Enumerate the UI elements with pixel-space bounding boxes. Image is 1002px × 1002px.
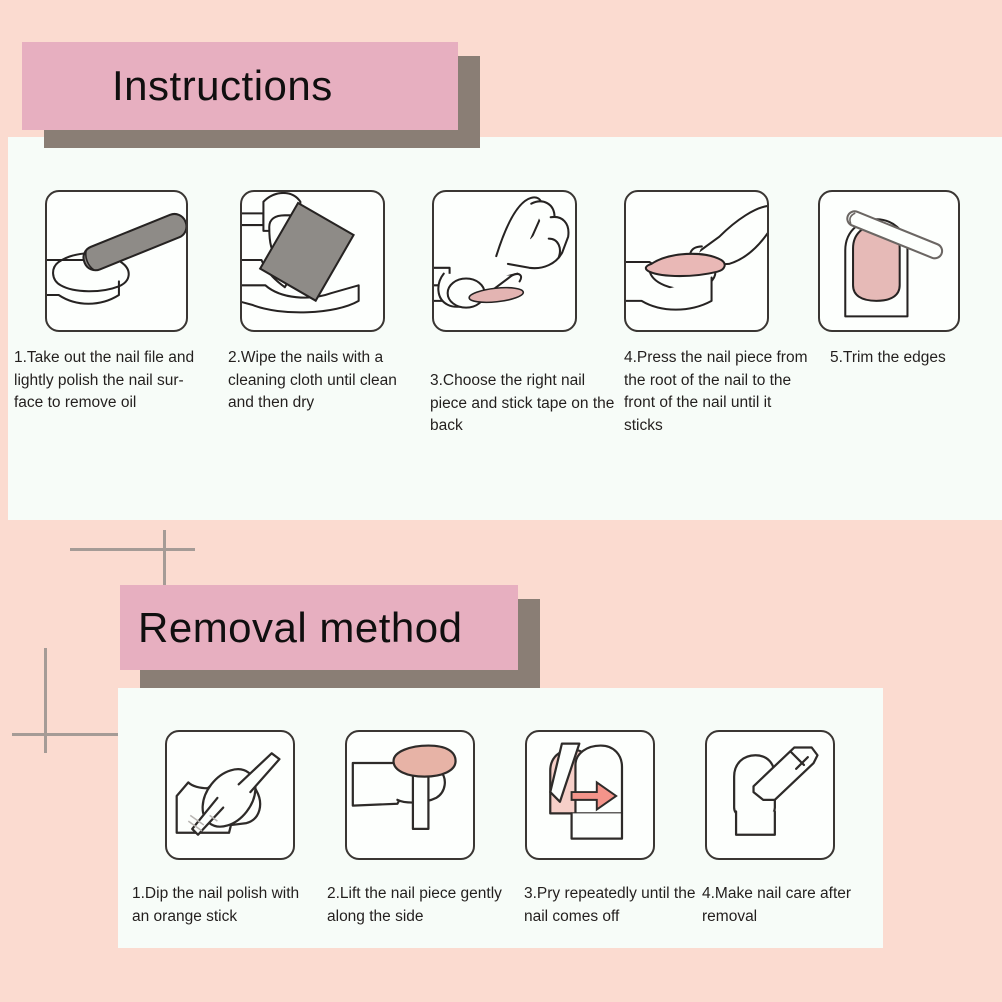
dip-nail-polish-icon — [167, 732, 293, 858]
step-panel-1 — [45, 190, 188, 332]
step-panel-5 — [818, 190, 960, 332]
banner-plate: Instructions — [22, 42, 458, 130]
removal-panel-3 — [525, 730, 655, 860]
removal-panel-4 — [705, 730, 835, 860]
lift-nail-piece-icon — [347, 732, 473, 858]
step-panel-3 — [432, 190, 577, 332]
instructions-banner: Instructions — [22, 42, 462, 138]
step-caption-5: 5.Trim the edges — [830, 347, 1000, 370]
step-caption-2: 2.Wipe the nails with a cleaning cloth u… — [228, 347, 428, 415]
step-caption-4: 4.Press the nail piece from the root of … — [624, 347, 824, 437]
instruction-sheet: Instructions — [0, 0, 1002, 1002]
removal-caption-1: 1.Dip the nail polish with an orange sti… — [132, 883, 327, 928]
nail-file-polish-icon — [47, 192, 186, 330]
choose-nail-piece-icon — [434, 192, 575, 330]
removal-panel-1 — [165, 730, 295, 860]
removal-banner: Removal method — [120, 585, 530, 681]
pry-nail-icon — [527, 732, 653, 858]
removal-caption-3: 3.Pry repeatedly until the nail comes of… — [524, 883, 714, 928]
step-caption-3: 3.Choose the right nail piece and stick … — [430, 370, 636, 438]
press-nail-piece-icon — [626, 192, 767, 330]
decor-cross-bottom — [12, 648, 132, 753]
removal-caption-2: 2.Lift the nail piece gently along the s… — [327, 883, 523, 928]
cleaning-cloth-icon — [242, 192, 383, 330]
section-title-removal: Removal method — [138, 604, 462, 652]
nail-care-icon — [707, 732, 833, 858]
step-panel-4 — [624, 190, 769, 332]
removal-caption-4: 4.Make nail care after removal — [702, 883, 887, 928]
step-panel-2 — [240, 190, 385, 332]
removal-panel-2 — [345, 730, 475, 860]
step-caption-1: 1.Take out the nail file and lightly pol… — [14, 347, 224, 415]
banner-plate: Removal method — [120, 585, 518, 670]
section-title-instructions: Instructions — [112, 62, 333, 110]
trim-edges-icon — [820, 192, 958, 330]
